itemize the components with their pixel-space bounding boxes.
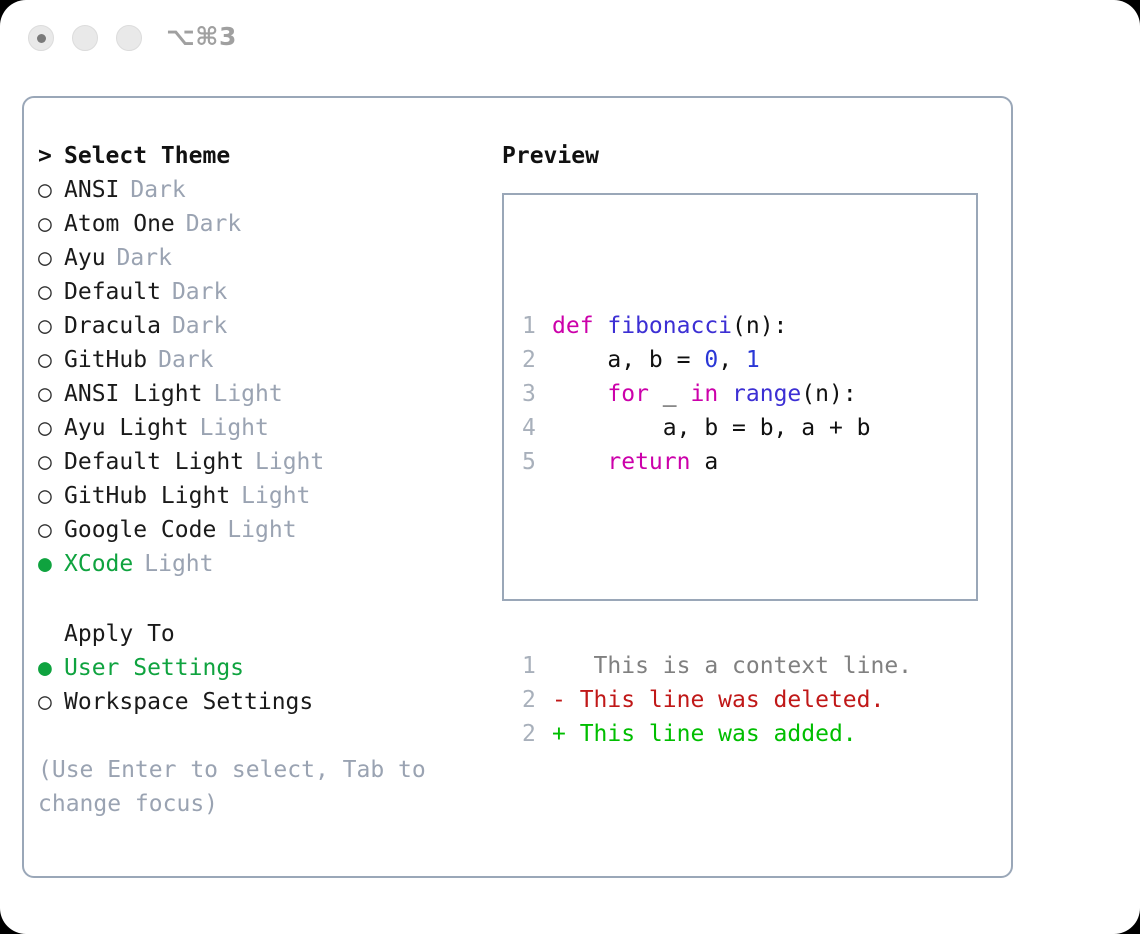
theme-variant-label: Light — [227, 517, 296, 543]
theme-list-item[interactable]: ○AyuDark — [38, 245, 488, 279]
code-token: fibonacci — [607, 313, 732, 339]
code-text: return a — [552, 445, 718, 479]
code-token: a, b = b, a + b — [552, 415, 871, 441]
theme-name-label: Default — [64, 279, 161, 305]
title-bar: ⌥⌘3 — [0, 0, 1140, 78]
theme-list-item[interactable]: ○Default LightLight — [38, 449, 488, 483]
preview-column: Preview 1def fibonacci(n):2 a, b = 0, 13… — [502, 143, 1002, 601]
diff-line: 2+ This line was added. — [522, 717, 912, 751]
code-token: for — [607, 381, 649, 407]
code-token: 1 — [746, 347, 760, 373]
code-diff-spacer — [522, 547, 912, 581]
theme-variant-label: Light — [144, 551, 213, 577]
theme-name-label: GitHub Light — [64, 483, 230, 509]
code-token: def — [552, 313, 607, 339]
diff-line: 1 This is a context line. — [522, 649, 912, 683]
line-number: 1 — [522, 649, 552, 683]
apply-to-header: Apply To — [38, 621, 488, 655]
theme-variant-label: Dark — [186, 211, 241, 237]
theme-name-label: Ayu — [64, 245, 106, 271]
theme-list-item[interactable]: ○Ayu LightLight — [38, 415, 488, 449]
apply-to-label: Workspace Settings — [64, 689, 313, 715]
radio-unselected-icon[interactable]: ○ — [38, 179, 64, 202]
code-text: for _ in range(n): — [552, 377, 857, 411]
theme-name-label: XCode — [64, 551, 133, 577]
radio-selected-icon[interactable]: ● — [38, 657, 64, 680]
theme-name-label: ANSI — [64, 177, 119, 203]
theme-list-item[interactable]: ○DraculaDark — [38, 313, 488, 347]
code-token: a, b = — [552, 347, 704, 373]
code-line: 5 return a — [522, 445, 912, 479]
code-token: _ — [649, 381, 691, 407]
theme-name-label: Dracula — [64, 313, 161, 339]
theme-list-item[interactable]: ○ANSIDark — [38, 177, 488, 211]
code-line: 1def fibonacci(n): — [522, 309, 912, 343]
theme-variant-label: Dark — [158, 347, 213, 373]
theme-variant-label: Dark — [117, 245, 172, 271]
theme-list-item[interactable]: ○ANSI LightLight — [38, 381, 488, 415]
radio-unselected-icon[interactable]: ○ — [38, 383, 64, 406]
traffic-light-dot-icon — [37, 34, 46, 43]
app-window: ⌥⌘3 > Select Theme ○ANSIDark○Atom OneDar… — [0, 0, 1140, 934]
code-token: return — [607, 449, 690, 475]
radio-unselected-icon[interactable]: ○ — [38, 451, 64, 474]
theme-variant-label: Dark — [172, 313, 227, 339]
code-token: (n): — [732, 313, 787, 339]
radio-selected-icon[interactable]: ● — [38, 553, 64, 576]
line-number: 4 — [522, 411, 552, 445]
code-line: 2 a, b = 0, 1 — [522, 343, 912, 377]
code-token: in — [690, 381, 718, 407]
preview-panel: 1def fibonacci(n):2 a, b = 0, 13 for _ i… — [502, 193, 978, 601]
theme-list-item[interactable]: ○GitHubDark — [38, 347, 488, 381]
theme-name-label: Atom One — [64, 211, 175, 237]
diff-block: 1 This is a context line.2- This line wa… — [522, 649, 912, 751]
select-theme-header: > Select Theme — [38, 143, 488, 177]
apply-to-list: ●User Settings○Workspace Settings — [38, 655, 488, 723]
keyboard-hint-text: (Use Enter to select, Tab to change focu… — [38, 753, 438, 821]
traffic-light-minimize[interactable] — [72, 25, 98, 51]
code-token: , — [718, 347, 746, 373]
section-spacer — [38, 585, 488, 621]
radio-unselected-icon[interactable]: ○ — [38, 519, 64, 542]
theme-list-item[interactable]: ○Atom OneDark — [38, 211, 488, 245]
theme-name-label: Default Light — [64, 449, 244, 475]
code-text: a, b = 0, 1 — [552, 343, 760, 377]
diff-text: - This line was deleted. — [552, 683, 884, 717]
theme-list-item[interactable]: ●XCodeLight — [38, 551, 488, 585]
line-number: 5 — [522, 445, 552, 479]
apply-to-label: User Settings — [64, 655, 244, 681]
theme-picker-dialog: > Select Theme ○ANSIDark○Atom OneDark○Ay… — [22, 96, 1013, 878]
radio-unselected-icon[interactable]: ○ — [38, 281, 64, 304]
theme-name-label: ANSI Light — [64, 381, 202, 407]
code-token: 0 — [704, 347, 718, 373]
radio-unselected-icon[interactable]: ○ — [38, 691, 64, 714]
radio-unselected-icon[interactable]: ○ — [38, 417, 64, 440]
keyboard-shortcut-label: ⌥⌘3 — [166, 22, 237, 51]
code-token: a — [690, 449, 718, 475]
theme-variant-label: Light — [213, 381, 282, 407]
traffic-light-close[interactable] — [28, 25, 54, 51]
traffic-lights — [28, 25, 142, 51]
theme-list: ○ANSIDark○Atom OneDark○AyuDark○DefaultDa… — [38, 177, 488, 585]
select-theme-title: Select Theme — [64, 143, 230, 169]
radio-unselected-icon[interactable]: ○ — [38, 247, 64, 270]
line-number: 2 — [522, 717, 552, 751]
theme-variant-label: Dark — [130, 177, 185, 203]
preview-heading: Preview — [502, 143, 1002, 169]
code-token — [552, 449, 607, 475]
line-number: 2 — [522, 343, 552, 377]
theme-selection-column: > Select Theme ○ANSIDark○Atom OneDark○Ay… — [38, 143, 488, 821]
radio-unselected-icon[interactable]: ○ — [38, 213, 64, 236]
theme-name-label: Ayu Light — [64, 415, 189, 441]
theme-variant-label: Dark — [172, 279, 227, 305]
diff-line: 2- This line was deleted. — [522, 683, 912, 717]
code-token — [552, 381, 607, 407]
theme-list-item[interactable]: ○Google CodeLight — [38, 517, 488, 551]
line-number: 1 — [522, 309, 552, 343]
apply-to-item[interactable]: ●User Settings — [38, 655, 488, 689]
theme-variant-label: Light — [200, 415, 269, 441]
diff-text: + This line was added. — [552, 717, 857, 751]
theme-name-label: Google Code — [64, 517, 216, 543]
code-sample: 1def fibonacci(n):2 a, b = 0, 13 for _ i… — [522, 241, 912, 819]
radio-unselected-icon[interactable]: ○ — [38, 349, 64, 372]
apply-to-title: Apply To — [64, 621, 175, 647]
code-block: 1def fibonacci(n):2 a, b = 0, 13 for _ i… — [522, 309, 912, 479]
apply-to-item[interactable]: ○Workspace Settings — [38, 689, 488, 723]
radio-unselected-icon[interactable]: ○ — [38, 485, 64, 508]
line-number: 3 — [522, 377, 552, 411]
line-number: 2 — [522, 683, 552, 717]
theme-list-item[interactable]: ○GitHub LightLight — [38, 483, 488, 517]
code-line: 4 a, b = b, a + b — [522, 411, 912, 445]
code-token: range — [732, 381, 801, 407]
caret-icon: > — [38, 145, 64, 168]
code-text: a, b = b, a + b — [552, 411, 871, 445]
code-token — [718, 381, 732, 407]
theme-name-label: GitHub — [64, 347, 147, 373]
code-line: 3 for _ in range(n): — [522, 377, 912, 411]
diff-text: This is a context line. — [552, 649, 912, 683]
theme-variant-label: Light — [255, 449, 324, 475]
theme-variant-label: Light — [241, 483, 310, 509]
theme-list-item[interactable]: ○DefaultDark — [38, 279, 488, 313]
radio-unselected-icon[interactable]: ○ — [38, 315, 64, 338]
traffic-light-maximize[interactable] — [116, 25, 142, 51]
code-text: def fibonacci(n): — [552, 309, 787, 343]
code-token: (n): — [801, 381, 856, 407]
